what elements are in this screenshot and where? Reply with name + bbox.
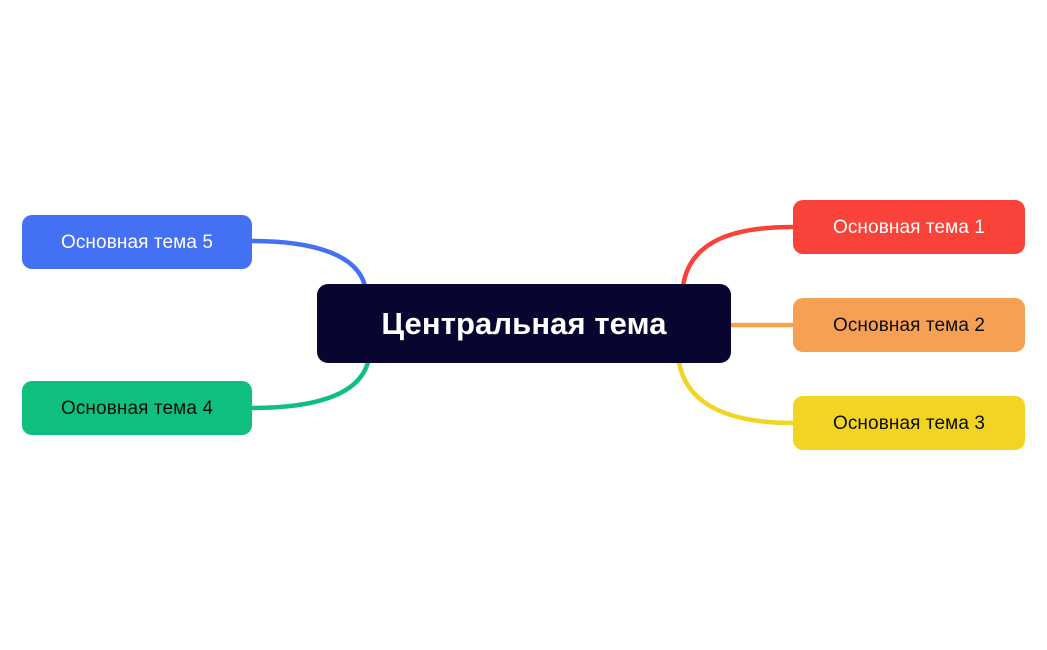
branch-label-topic-5: Основная тема 5 <box>61 233 213 252</box>
central-topic-node[interactable]: Центральная тема <box>317 284 731 363</box>
connector-to-topic-3 <box>679 362 793 423</box>
branch-node-topic-5[interactable]: Основная тема 5 <box>22 215 252 269</box>
branch-label-topic-4: Основная тема 4 <box>61 399 213 418</box>
branch-node-topic-3[interactable]: Основная тема 3 <box>793 396 1025 450</box>
connector-to-topic-5 <box>252 241 365 286</box>
branch-label-topic-2: Основная тема 2 <box>833 316 985 335</box>
branch-label-topic-3: Основная тема 3 <box>833 414 985 433</box>
central-topic-label: Центральная тема <box>381 308 666 339</box>
connector-to-topic-4 <box>252 362 368 408</box>
connector-to-topic-1 <box>683 227 793 286</box>
mind-map-canvas: Центральная тема Основная тема 1 Основна… <box>0 0 1047 650</box>
branch-label-topic-1: Основная тема 1 <box>833 218 985 237</box>
branch-node-topic-4[interactable]: Основная тема 4 <box>22 381 252 435</box>
branch-node-topic-1[interactable]: Основная тема 1 <box>793 200 1025 254</box>
branch-node-topic-2[interactable]: Основная тема 2 <box>793 298 1025 352</box>
